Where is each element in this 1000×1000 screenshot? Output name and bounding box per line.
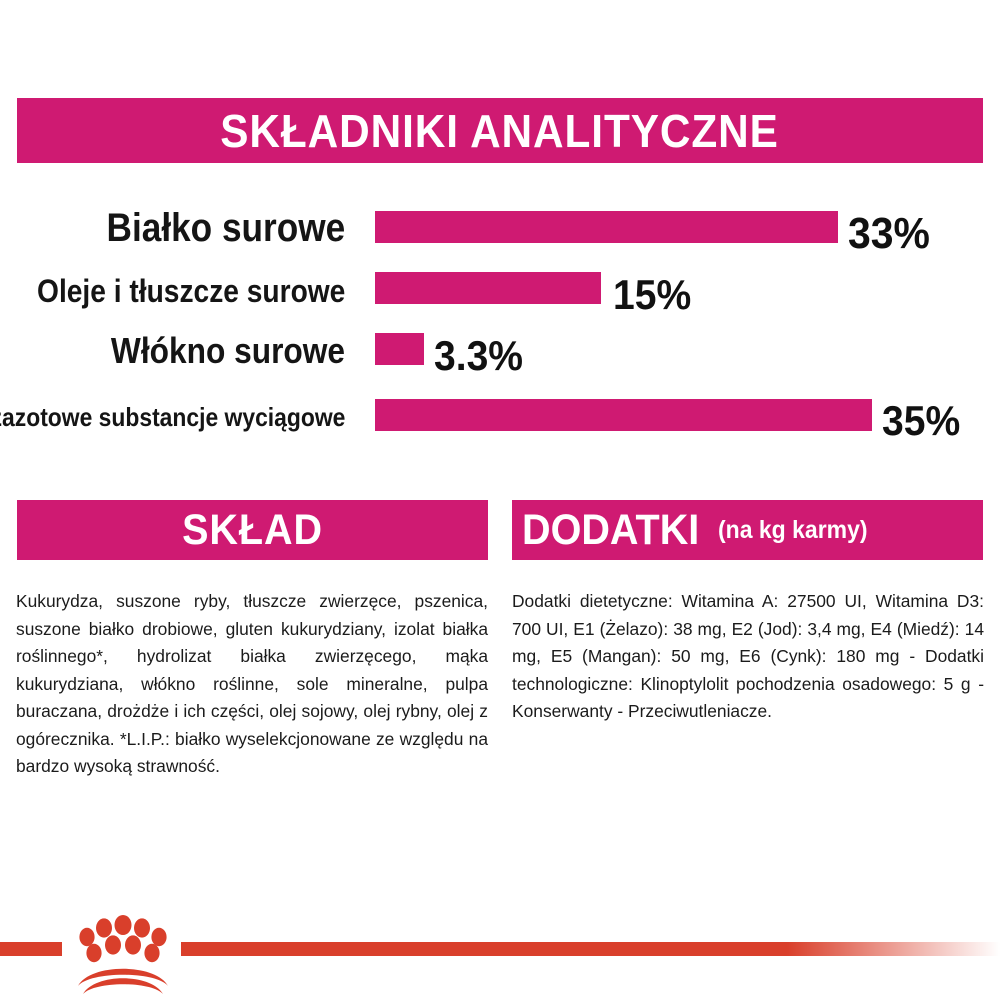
additives-text: Dodatki dietetyczne: Witamina A: 27500 U…	[512, 588, 984, 726]
analytical-constituents-chart: Białko surowe 33% Oleje i tłuszcze surow…	[0, 190, 1000, 460]
bar-fill-fat	[375, 272, 601, 304]
additives-title: DODATKI	[522, 506, 699, 555]
bar-track-protein	[375, 211, 838, 243]
chart-row-fibre: Włókno surowe 3.3%	[0, 323, 1000, 373]
bar-value-nitrogen-free-extract: 35%	[882, 400, 960, 442]
product-info-panel: SKŁADNIKI ANALITYCZNE Białko surowe 33% …	[0, 0, 1000, 1000]
composition-title: SKŁAD	[182, 506, 323, 555]
bar-value-fibre: 3.3%	[434, 335, 523, 377]
analytical-constituents-title: SKŁADNIKI ANALITYCZNE	[221, 104, 779, 158]
additives-header: DODATKI (na kg karmy)	[512, 500, 983, 560]
bar-label-fat: Oleje i tłuszcze surowe	[37, 275, 345, 307]
bar-label-protein: Białko surowe	[106, 208, 345, 248]
royal-canin-crown-icon	[68, 912, 178, 994]
bar-fill-fibre	[375, 333, 424, 365]
composition-text: Kukurydza, suszone ryby, tłuszcze zwierz…	[16, 588, 488, 781]
bar-value-protein: 33%	[848, 212, 930, 256]
bar-fill-protein	[375, 211, 838, 243]
bar-label-fibre: Włókno surowe	[111, 333, 345, 369]
bar-track-fat	[375, 272, 601, 304]
chart-row-fat: Oleje i tłuszcze surowe 15%	[0, 262, 1000, 312]
bar-track-fibre	[375, 333, 424, 365]
additives-subtitle: (na kg karmy)	[718, 516, 868, 545]
analytical-constituents-header: SKŁADNIKI ANALITYCZNE	[17, 98, 983, 163]
footer-rule-left	[0, 942, 62, 956]
bar-track-nitrogen-free-extract	[375, 399, 872, 431]
brand-footer	[0, 930, 1000, 1000]
footer-rule-right	[181, 942, 1000, 956]
chart-row-nitrogen-free-extract: Bezazotowe substancje wyciągowe 35%	[0, 387, 1000, 437]
chart-row-protein: Białko surowe 33%	[0, 201, 1000, 251]
bar-label-nitrogen-free-extract: Bezazotowe substancje wyciągowe	[0, 404, 345, 430]
bar-fill-nitrogen-free-extract	[375, 399, 872, 431]
bar-value-fat: 15%	[613, 274, 691, 316]
composition-header: SKŁAD	[17, 500, 488, 560]
